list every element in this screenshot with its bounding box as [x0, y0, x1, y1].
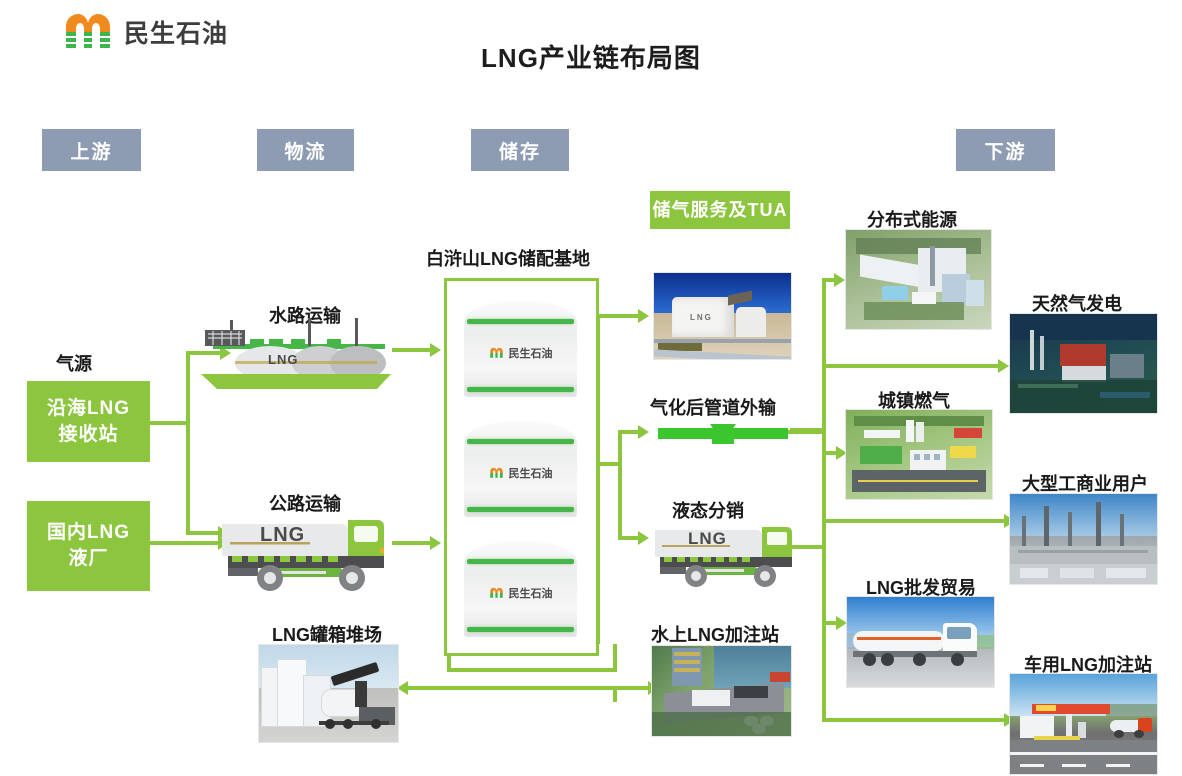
source-box-domestic-plant[interactable]: 国内LNG 液厂	[27, 501, 150, 591]
truck-lng-label: LNG	[260, 524, 305, 547]
connector-line	[822, 364, 1002, 368]
tua-photo-lng-label: LNG	[690, 313, 713, 322]
connector-arrow	[834, 273, 845, 287]
upstream-group-label: 气源	[56, 350, 92, 376]
connector-arrow	[430, 343, 441, 357]
liquid-lng-label: LNG	[688, 529, 727, 549]
m-logo-icon	[489, 587, 504, 599]
storage-tank: 民生石油	[464, 541, 577, 637]
tank-brand-label: 民生石油	[509, 345, 553, 361]
industrial-users-photo	[1009, 493, 1158, 585]
distributed-energy-photo	[845, 229, 992, 330]
connector-line	[186, 351, 190, 425]
tank-brand-label: 民生石油	[509, 465, 553, 481]
storage-tank: 民生石油	[464, 301, 577, 397]
connector-line	[613, 644, 617, 672]
storage-caption: 白浒山LNG储配基地	[426, 245, 590, 271]
pipeline-valve-icon	[658, 420, 788, 446]
pipeline-caption: 气化后管道外输	[650, 394, 776, 420]
connector-line	[186, 531, 220, 535]
tank-brand-label: 民生石油	[509, 585, 553, 601]
connector-line	[392, 348, 432, 352]
source-line-1: 沿海LNG	[47, 396, 130, 422]
gas-power-photo	[1009, 313, 1158, 414]
source-line-2: 液厂	[47, 546, 130, 572]
stage-header-downstream: 下游	[956, 129, 1055, 171]
connector-line	[618, 430, 622, 466]
m-logo-icon	[489, 347, 504, 359]
marine-station-caption: 水上LNG加注站	[651, 621, 779, 647]
connector-line	[618, 462, 622, 540]
connector-line	[822, 519, 1008, 523]
marine-bunkering-photo	[651, 645, 792, 737]
connector-line	[790, 428, 822, 433]
page-title: LNG产业链布局图	[0, 38, 1182, 75]
connector-line	[596, 314, 640, 318]
lng-truck-icon	[222, 508, 397, 593]
connector-line	[150, 421, 190, 425]
lng-truck-icon	[655, 516, 803, 588]
connector-line	[408, 686, 653, 690]
storage-facility-box[interactable]: 民生石油 民生石油 民生石油	[444, 278, 599, 656]
connector-line	[822, 718, 1008, 722]
storage-tank: 民生石油	[464, 421, 577, 517]
source-line-1: 国内LNG	[47, 520, 130, 546]
m-logo-icon	[489, 467, 504, 479]
connector-arrow	[638, 531, 649, 545]
lng-wholesale-photo	[846, 596, 995, 688]
tua-badge[interactable]: 储气服务及TUA	[650, 191, 790, 229]
source-line-2: 接收站	[47, 422, 130, 448]
connector-line	[186, 421, 190, 535]
ship-lng-label: LNG	[268, 352, 298, 367]
connector-line	[618, 430, 640, 434]
connector-line	[150, 541, 220, 545]
connector-line	[618, 536, 640, 540]
city-gas-photo	[845, 409, 993, 500]
tua-photo: LNG	[653, 272, 792, 360]
connector-line	[392, 541, 432, 545]
stage-header-storage: 储存	[471, 129, 569, 171]
stage-header-logistics: 物流	[257, 129, 354, 171]
connector-arrow	[638, 425, 649, 439]
source-box-coastal-terminal[interactable]: 沿海LNG 接收站	[27, 381, 150, 462]
lng-container-yard-photo	[258, 644, 399, 743]
connector-line	[822, 278, 826, 722]
connector-line	[447, 668, 617, 672]
vehicle-station-photo	[1009, 673, 1158, 775]
connector-arrow	[430, 536, 441, 550]
connector-arrow	[998, 359, 1009, 373]
stage-header-upstream: 上游	[42, 129, 141, 171]
connector-arrow	[638, 309, 649, 323]
